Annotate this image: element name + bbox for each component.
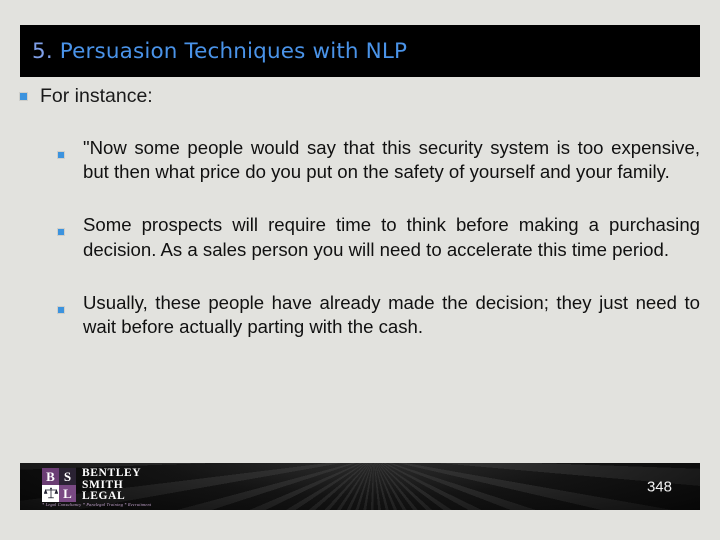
bullet-marker (20, 84, 40, 100)
slide-content: For instance: "Now some people would say… (20, 84, 700, 340)
logo-tagline: * Legal Consultancy * Paralegal Training… (42, 502, 151, 507)
title-number: 5. (32, 39, 53, 64)
logo-word-bentley: BENTLEY (82, 468, 141, 480)
sub-bullet-text-3: Usually, these people have already made … (83, 291, 700, 340)
square-bullet-icon (58, 307, 64, 313)
bullet-lead-text: For instance: (40, 84, 153, 110)
bullet-item-lead: For instance: (20, 84, 700, 110)
bullet-marker (58, 213, 83, 240)
page-number: 348 (647, 478, 672, 495)
logo-letter-s: S (59, 468, 76, 485)
slide-footer: B S L BE (20, 463, 700, 510)
logo-wordmark: BENTLEY SMITH LEGAL (82, 468, 141, 503)
bullet-marker (58, 291, 83, 318)
slide: 5. Persuasion Techniques with NLP For in… (0, 0, 720, 540)
logo-monogram-grid: B S L (42, 468, 76, 502)
list-item: Some prospects will require time to thin… (58, 213, 700, 262)
sub-bullet-text-2: Some prospects will require time to thin… (83, 213, 700, 262)
bullet-marker (58, 136, 83, 163)
square-bullet-icon (58, 229, 64, 235)
list-item: "Now some people would say that this sec… (58, 136, 700, 185)
page-title: 5. Persuasion Techniques with NLP (20, 39, 407, 64)
square-bullet-icon (20, 93, 27, 100)
slide-title-bar: 5. Persuasion Techniques with NLP (20, 25, 700, 77)
square-bullet-icon (58, 152, 64, 158)
title-label: Persuasion Techniques with NLP (53, 39, 407, 64)
brand-logo: B S L BE (42, 468, 141, 503)
list-item: Usually, these people have already made … (58, 291, 700, 340)
scales-of-justice-icon (42, 485, 59, 502)
logo-letter-l: L (59, 485, 76, 502)
logo-letter-b: B (42, 468, 59, 485)
sub-bullet-text-1: "Now some people would say that this sec… (83, 136, 700, 185)
sub-bullet-list: "Now some people would say that this sec… (58, 136, 700, 340)
